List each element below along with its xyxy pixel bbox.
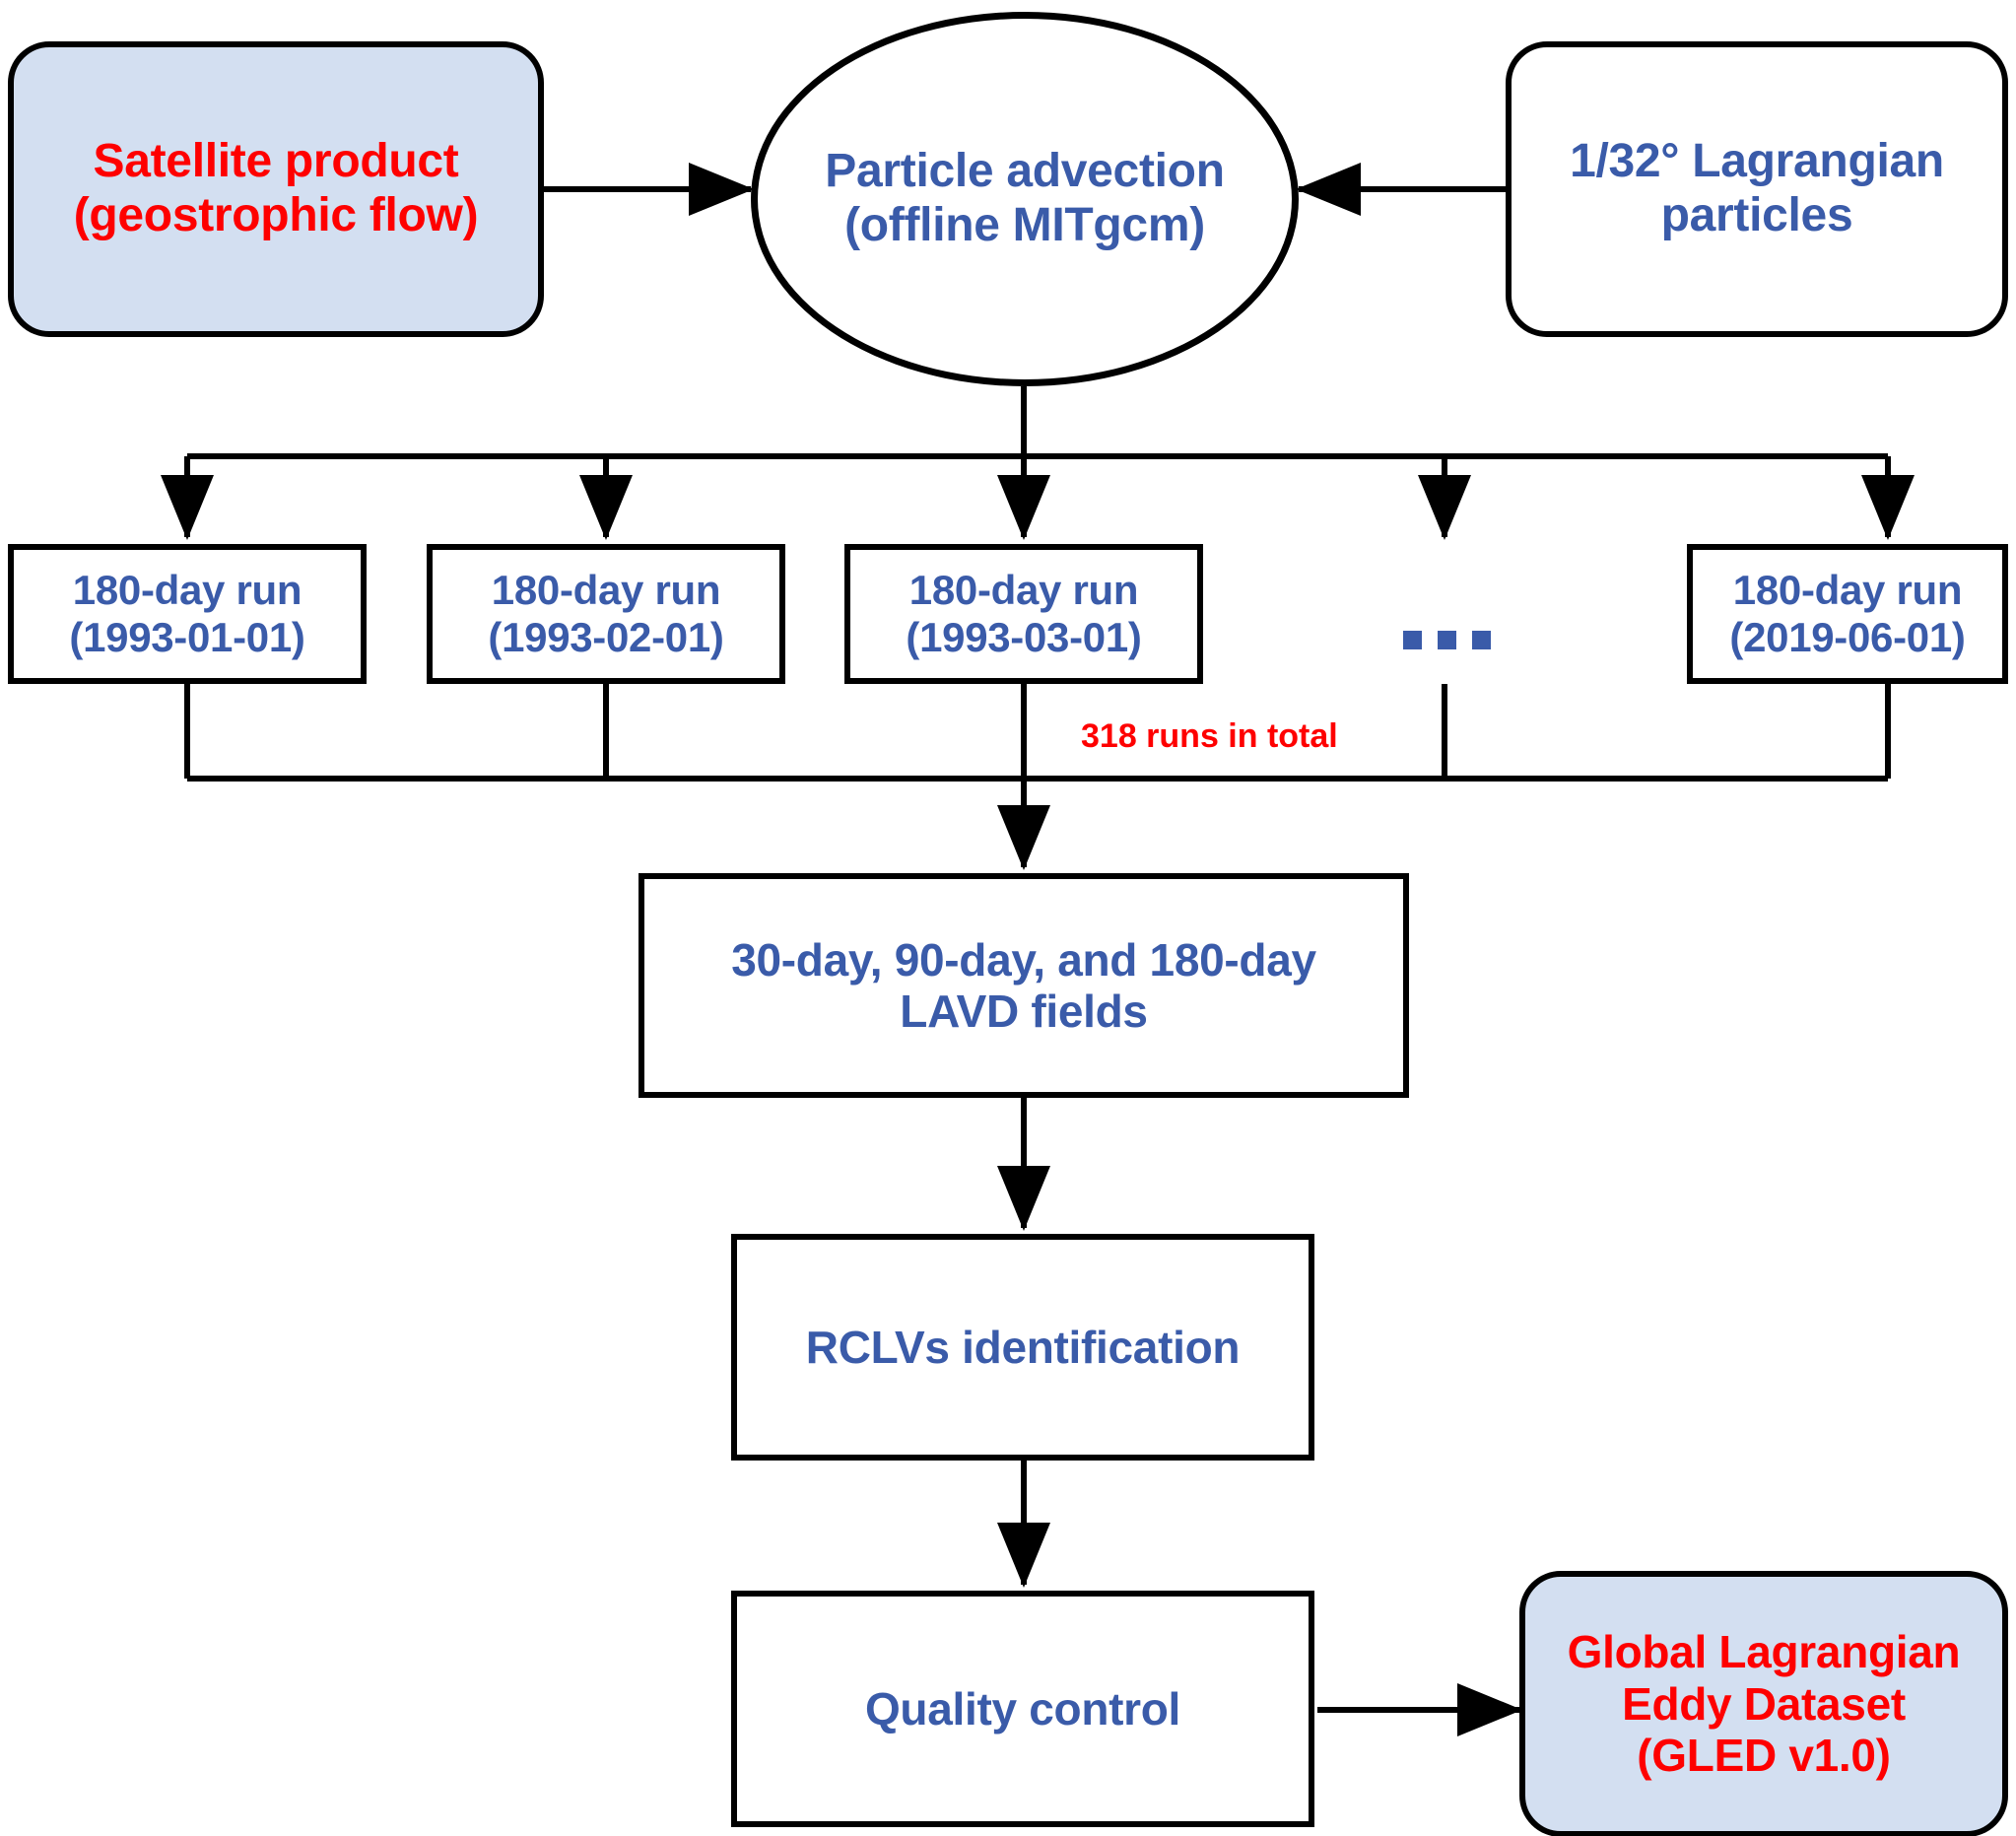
node-lavd-fields-label: 30-day, 90-day, and 180-day LAVD fields xyxy=(731,934,1316,1038)
runs-total-note: 318 runs in total xyxy=(1081,717,1338,756)
flowchart-canvas: Satellite product (geostrophic flow) Par… xyxy=(0,0,2016,1836)
node-satellite-product-label: Satellite product (geostrophic flow) xyxy=(74,135,479,242)
node-run-4-label: 180-day run (2019-06-01) xyxy=(1729,567,1965,661)
node-run-2[interactable]: 180-day run (1993-02-01) xyxy=(427,544,785,684)
node-rclvs-identification[interactable]: RCLVs identification xyxy=(731,1234,1314,1461)
node-particle-advection-label: Particle advection (offline MITgcm) xyxy=(825,145,1224,252)
node-quality-control[interactable]: Quality control xyxy=(731,1591,1314,1827)
node-rclvs-identification-label: RCLVs identification xyxy=(806,1322,1240,1373)
node-gled-dataset[interactable]: Global Lagrangian Eddy Dataset (GLED v1.… xyxy=(1519,1571,2008,1836)
node-quality-control-label: Quality control xyxy=(865,1683,1180,1734)
node-run-1-label: 180-day run (1993-01-01) xyxy=(69,567,304,661)
node-lagrangian-particles[interactable]: 1/32° Lagrangian particles xyxy=(1506,41,2008,337)
runs-ellipsis-icon xyxy=(1403,631,1491,649)
node-run-4[interactable]: 180-day run (2019-06-01) xyxy=(1687,544,2008,684)
node-satellite-product[interactable]: Satellite product (geostrophic flow) xyxy=(8,41,544,337)
node-run-3[interactable]: 180-day run (1993-03-01) xyxy=(844,544,1203,684)
node-run-2-label: 180-day run (1993-02-01) xyxy=(488,567,723,661)
node-lagrangian-particles-label: 1/32° Lagrangian particles xyxy=(1570,135,1944,242)
ellipsis-dot-3 xyxy=(1472,631,1491,649)
node-gled-dataset-label: Global Lagrangian Eddy Dataset (GLED v1.… xyxy=(1568,1626,1961,1781)
ellipsis-dot-2 xyxy=(1438,631,1456,649)
ellipsis-dot-1 xyxy=(1403,631,1422,649)
node-lavd-fields[interactable]: 30-day, 90-day, and 180-day LAVD fields xyxy=(638,873,1409,1098)
node-run-1[interactable]: 180-day run (1993-01-01) xyxy=(8,544,367,684)
node-particle-advection[interactable]: Particle advection (offline MITgcm) xyxy=(751,12,1299,386)
node-run-3-label: 180-day run (1993-03-01) xyxy=(906,567,1141,661)
